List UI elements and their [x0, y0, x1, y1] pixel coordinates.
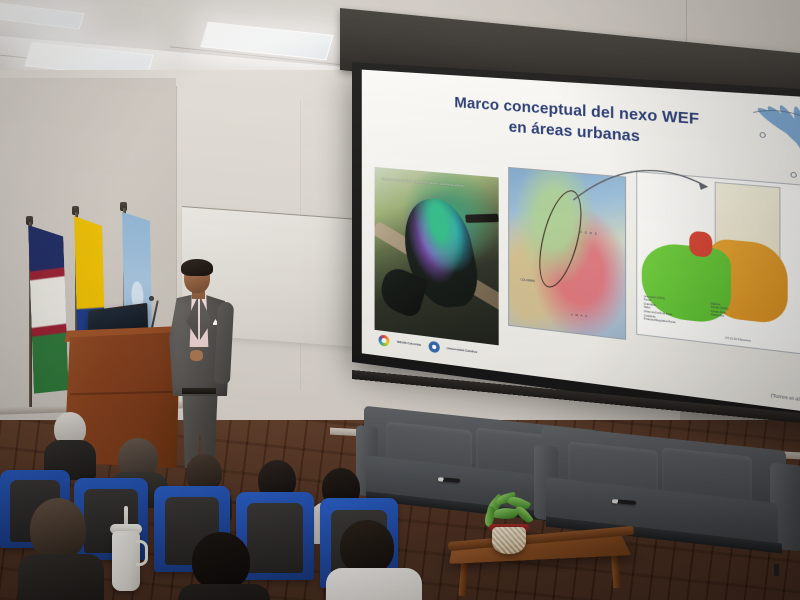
legend2-item-3: Abstraction [711, 315, 729, 321]
presenter-hand [190, 350, 203, 361]
slide-surface: Marco conceptual del nexo WEF en áreas u… [362, 70, 800, 416]
presenter-hair [181, 259, 213, 276]
logo-2-text: Universidad Católica [447, 347, 478, 355]
audience-member-8 [330, 520, 420, 600]
audience-member-7 [178, 532, 270, 600]
audience-member-8-body [326, 568, 422, 600]
map-label-colombia: COLOMBIA [520, 279, 535, 284]
audience-member-7-head [192, 532, 250, 590]
plant-pot [492, 527, 526, 554]
audience-member-7-body [178, 584, 270, 600]
audience-member-6 [18, 498, 104, 600]
podium-microphone-head [149, 296, 154, 301]
presenter-belt [182, 388, 216, 394]
slide-citation: (Torres et al., 2020) [771, 392, 800, 404]
map-scale-bar: 0 5 10 20 Kilometers [725, 336, 751, 342]
sunburst-institution-logo [379, 335, 390, 347]
presenter-arm [214, 302, 234, 385]
hummingbird-photo: Colibrí esmeralda spp. Orden: Apodiforme… [375, 167, 499, 345]
tumbler-handle [136, 540, 148, 566]
presenter-speaker [160, 262, 238, 468]
sofa-right-leg-2 [774, 564, 779, 576]
map-legend-secondary: Stations Stream Quality Stream Flow Abst… [711, 303, 729, 320]
map-label-amazon: A M A Z [571, 313, 588, 318]
university-seal-logo [428, 341, 439, 354]
audience-member-1 [42, 412, 96, 472]
logo-1-text: IDEAM Colombia [397, 340, 421, 347]
map-legend: Land cover (2015) Forest Grassland Water… [644, 296, 676, 326]
audience-member-6-body [18, 554, 104, 600]
map-label-venezuela: V E N E [580, 231, 598, 236]
sofa-right [538, 428, 800, 588]
audience-member-8-head [340, 520, 394, 574]
flag-boyaca [28, 225, 69, 397]
conference-room-scene: Marco conceptual del nexo WEF en áreas u… [0, 0, 800, 600]
landcover-red [689, 231, 712, 258]
bird-photo-caption: Colibrí esmeralda spp. Orden: Apodiforme… [382, 178, 464, 189]
hummingbird-beak [465, 214, 498, 223]
audience-member-6-head [30, 498, 86, 560]
